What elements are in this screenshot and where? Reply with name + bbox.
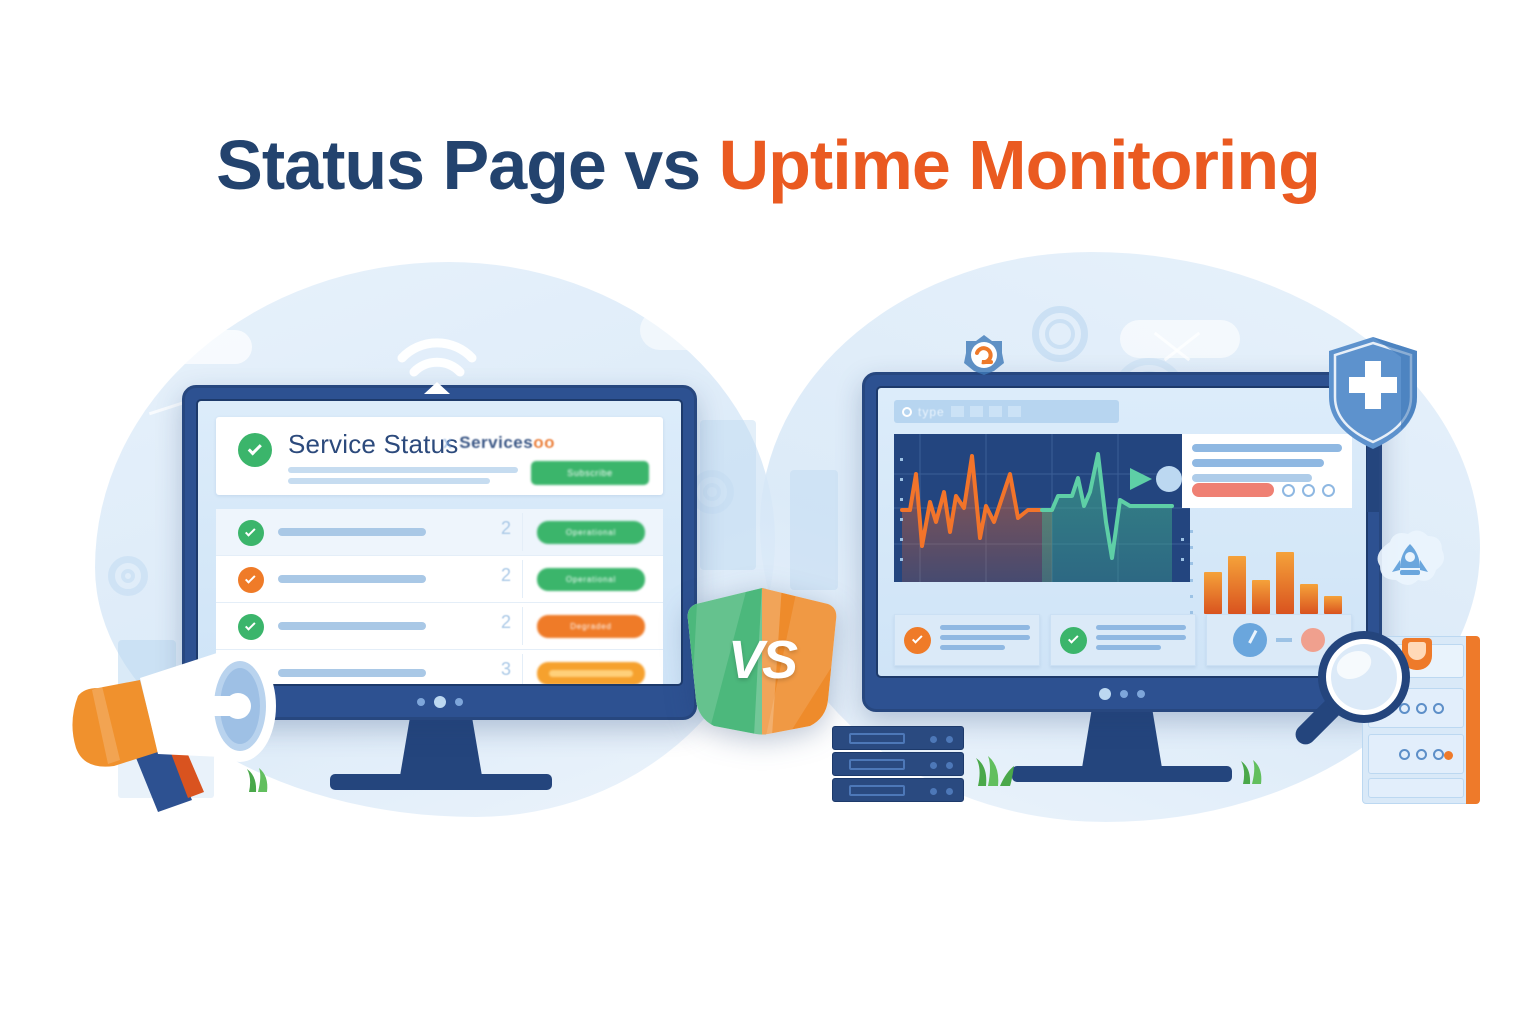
server-drive-slot (849, 785, 905, 796)
status-card[interactable] (894, 614, 1040, 666)
indicator-dot (455, 698, 463, 706)
bar (1204, 572, 1222, 614)
play-triangle-icon (1130, 468, 1152, 490)
row-metric: 2 (501, 518, 511, 539)
row-metric: 2 (501, 565, 511, 586)
dashboard-side-panel (1182, 434, 1352, 614)
service-status-header: Service Status xServicesoo Subscribe (216, 417, 663, 495)
server-led (946, 736, 953, 743)
service-status-title: Service Status (288, 429, 458, 460)
title-part-accent: Uptime Monitoring (719, 126, 1320, 204)
url-placeholder-segment (951, 406, 964, 417)
placeholder-line (1192, 444, 1342, 452)
placeholder-line (1192, 459, 1324, 467)
check-circle-icon (1060, 627, 1087, 654)
bar (1228, 556, 1246, 614)
indicator-dot (1137, 690, 1145, 698)
row-metric: 2 (501, 612, 511, 633)
table-row[interactable]: 2 Operational (216, 556, 663, 603)
rack-accent-edge (1466, 636, 1480, 804)
service-name-placeholder (278, 622, 426, 630)
server-unit (832, 726, 964, 750)
server-stack-icon (832, 726, 972, 804)
building-decoration (790, 470, 838, 590)
card-placeholder-lines (940, 625, 1030, 655)
brand-text: Services (459, 433, 533, 452)
magnifier-icon (1282, 625, 1417, 760)
cloud-rocket-icon (1372, 528, 1448, 600)
check-circle-icon (238, 567, 264, 593)
row-divider (522, 513, 523, 551)
bar (1324, 596, 1342, 614)
indicator-dot (434, 696, 446, 708)
row-metric: 3 (501, 659, 511, 680)
page-title: Status Page vs Uptime Monitoring (0, 125, 1536, 205)
left-monitor-stand-base (330, 774, 552, 790)
status-ring-icon (1322, 484, 1335, 497)
status-ring-icon (1302, 484, 1315, 497)
status-badge (537, 662, 645, 685)
header-placeholder-lines (288, 467, 518, 489)
uptime-line-chart (894, 434, 1190, 582)
chart-svg (894, 434, 1190, 582)
check-circle-icon (238, 520, 264, 546)
table-row[interactable]: 2 Operational (216, 509, 663, 556)
grass-tuft-icon (972, 754, 1016, 786)
alert-pill (1192, 483, 1274, 497)
server-drive-slot (849, 733, 905, 744)
status-badge: Degraded (537, 615, 645, 638)
shield-health-icon (1325, 335, 1421, 455)
indicator-dot (417, 698, 425, 706)
url-placeholder-segment (989, 406, 1002, 417)
bar (1276, 552, 1294, 614)
bar (1300, 584, 1318, 614)
left-monitor-stand-neck (400, 718, 482, 776)
service-brand-label: xServicesoo (443, 433, 555, 453)
indicator-dot (1120, 690, 1128, 698)
server-led (946, 762, 953, 769)
indicator-dot (1099, 688, 1111, 700)
subscribe-button[interactable]: Subscribe (531, 461, 649, 485)
url-placeholder-segment (970, 406, 983, 417)
status-badge: Operational (537, 568, 645, 591)
server-unit (832, 752, 964, 776)
row-divider (522, 607, 523, 645)
server-led (930, 736, 937, 743)
illustration-canvas: Status Page vs Uptime Monitoring Service… (0, 0, 1536, 1024)
server-led (946, 788, 953, 795)
alert-badge-icon (962, 333, 1006, 377)
vs-label: VS (678, 584, 846, 736)
brand-x-mark: x (443, 433, 452, 452)
bar-chart-axis (1190, 530, 1193, 614)
row-divider (522, 654, 523, 686)
service-name-placeholder (278, 575, 426, 583)
right-monitor-stand-neck (1082, 710, 1162, 768)
grass-tuft-icon (1238, 758, 1272, 784)
status-card[interactable] (1050, 614, 1196, 666)
status-ring-group (1282, 484, 1335, 497)
service-name-placeholder (278, 528, 426, 536)
gauge-icon (1233, 623, 1267, 657)
rack-bottom-panel (1368, 778, 1464, 798)
check-circle-icon (904, 627, 931, 654)
server-unit (832, 778, 964, 802)
browser-url-bar[interactable]: type (894, 400, 1119, 423)
status-dot (1156, 466, 1182, 492)
cloud-decoration (640, 310, 750, 350)
server-led (930, 762, 937, 769)
server-drive-slot (849, 759, 905, 770)
url-placeholder-segment (1008, 406, 1021, 417)
status-badge: Operational (537, 521, 645, 544)
server-led (930, 788, 937, 795)
rack-alert-led (1444, 751, 1453, 760)
response-bar-chart (1204, 540, 1342, 614)
gear-icon (108, 556, 148, 596)
row-divider (522, 560, 523, 598)
placeholder-line (1192, 474, 1312, 482)
title-part-primary: Status Page vs (216, 126, 718, 204)
wifi-icon (398, 336, 476, 398)
gear-icon (1032, 306, 1088, 362)
check-circle-icon (238, 433, 272, 467)
right-monitor-stand-base (1012, 766, 1232, 782)
bar (1252, 580, 1270, 614)
status-ring-icon (1282, 484, 1295, 497)
vs-badge: VS (678, 584, 846, 736)
grass-tuft-icon (244, 766, 278, 792)
globe-icon (902, 407, 912, 417)
card-placeholder-lines (1096, 625, 1186, 655)
cloud-decoration (160, 330, 252, 364)
url-text: type (918, 405, 945, 419)
megaphone-icon (62, 630, 317, 825)
